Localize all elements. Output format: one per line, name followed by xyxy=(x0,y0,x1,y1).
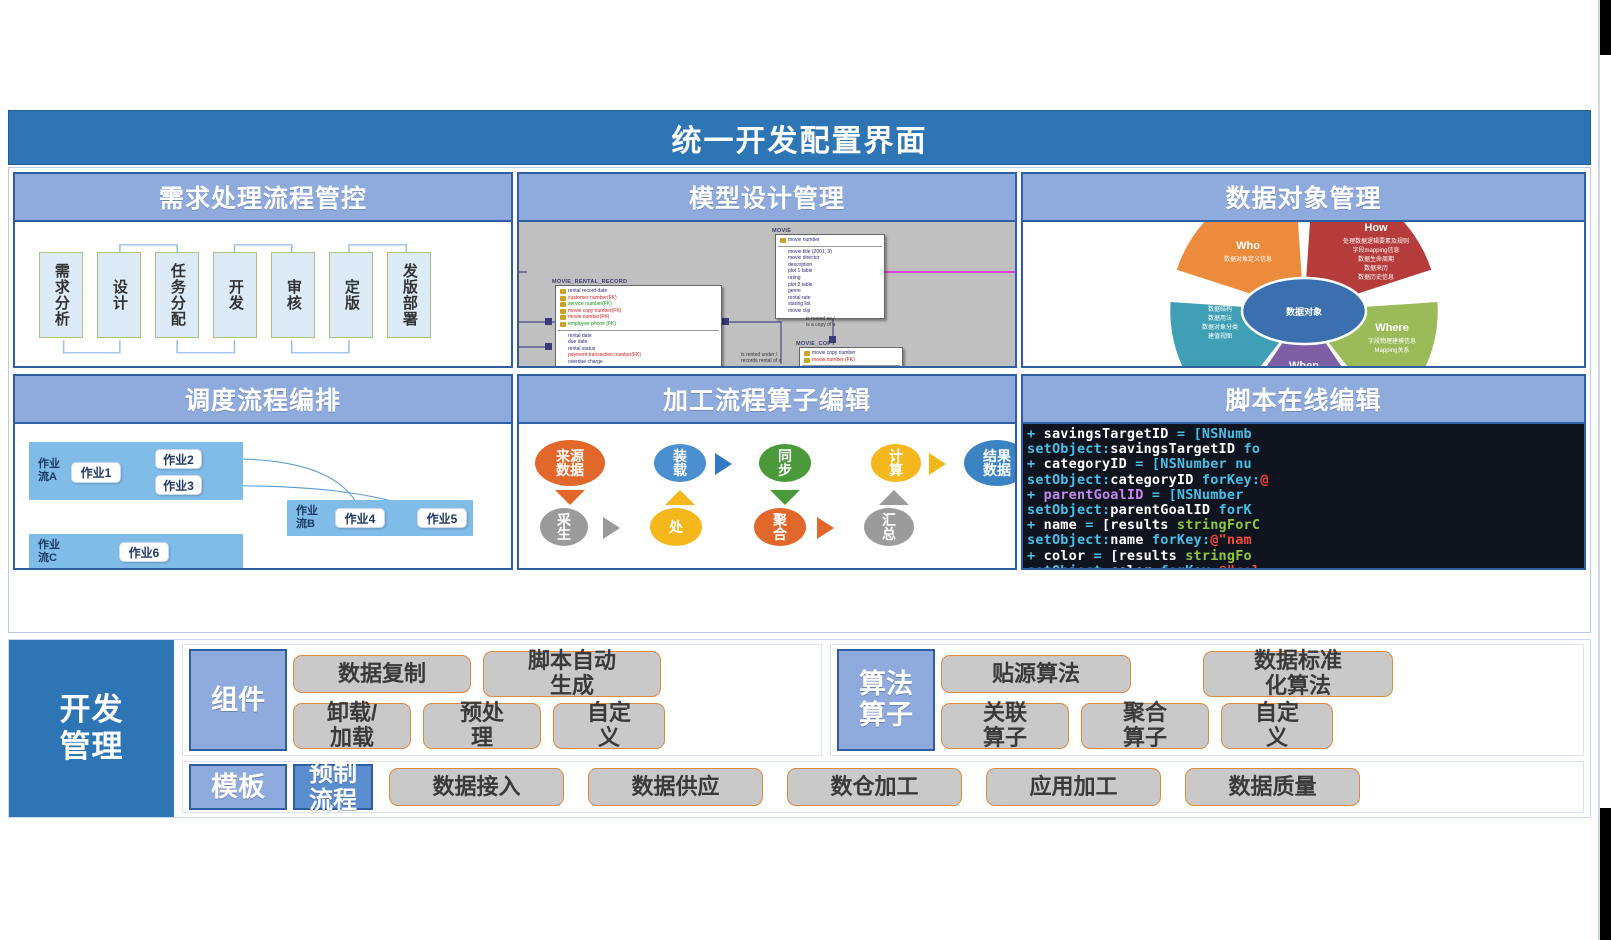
dev-band-primary: 组件 数据复制 脚本自动 生成 卸载/ 加载 预处 理 自定 义 xyxy=(182,644,1584,756)
panel-schedule-orchestration[interactable]: 调度流程编排 xyxy=(13,374,513,570)
workflow-node[interactable]: 发版部署 xyxy=(387,252,431,338)
chip-custom-component[interactable]: 自定 义 xyxy=(553,703,665,749)
panel-title-script: 脚本在线编辑 xyxy=(1023,376,1584,424)
operator-node-collect[interactable]: 采 生 xyxy=(540,508,588,546)
chip-preprocess[interactable]: 预处 理 xyxy=(423,703,541,749)
er-attribute: due date xyxy=(559,339,719,346)
job-node[interactable]: 作业2 xyxy=(155,449,202,469)
chip-source-algorithm[interactable]: 贴源算法 xyxy=(941,655,1131,693)
workflow-node-list: 需求分析 设计 任务分配 开发 审核 定版 发版部署 xyxy=(39,252,431,338)
code-line: setObject:name forKey:@"nam xyxy=(1027,533,1584,548)
er-attribute: movie title (2001, 9) xyxy=(779,249,882,256)
job-flow-label: 作业 流A xyxy=(38,458,68,483)
right-edge-divider xyxy=(1598,0,1600,940)
code-line: + color = [results stringFo xyxy=(1027,549,1584,564)
chip-data-ingest[interactable]: 数据接入 xyxy=(389,768,564,806)
er-attribute: movie number (FK) xyxy=(803,357,900,364)
component-chip-grid: 数据复制 脚本自动 生成 卸载/ 加载 预处 理 自定 义 xyxy=(287,645,821,755)
operator-node-source-data[interactable]: 来源 数据 xyxy=(535,440,605,486)
chip-unload-load[interactable]: 卸载/ 加载 xyxy=(293,703,411,749)
panel-body-data-object: 数据对象 Who 数据对象定义信息 How 处理数据逻辑要素及规则 字段mapp… xyxy=(1023,222,1584,366)
panel-script-editor[interactable]: 脚本在线编辑 + savingsTargetID = [NSNumb setOb… xyxy=(1021,374,1586,570)
operator-node-aggregate[interactable]: 聚 合 xyxy=(754,508,806,546)
category-template[interactable]: 模板 xyxy=(189,764,287,810)
workflow-node[interactable]: 审核 xyxy=(271,252,315,338)
arrow-right-icon xyxy=(817,517,834,539)
panel-title-requirement: 需求处理流程管控 xyxy=(15,174,511,222)
pie-sublabel-where: 字段物理建模信息 xyxy=(1367,337,1415,345)
page-title: 统一开发配置界面 xyxy=(672,116,928,160)
pie-label-where: Where xyxy=(1375,322,1409,334)
arrow-right-icon xyxy=(715,453,732,475)
workflow-node[interactable]: 设计 xyxy=(97,252,141,338)
pie-sublabel-what-3: 数据对象分类 xyxy=(1201,323,1237,331)
er-entity-movie-rental-record[interactable]: rental record date customer number(FK) s… xyxy=(555,285,722,366)
workflow-node[interactable]: 需求分析 xyxy=(39,252,83,338)
er-attribute: movie copy number(FK) xyxy=(559,308,719,315)
right-edge-strip-top xyxy=(1600,0,1611,55)
er-separator xyxy=(802,365,900,366)
panel-data-object[interactable]: 数据对象管理 xyxy=(1021,172,1586,368)
pie-sublabel-what: 数据结构 xyxy=(1207,305,1231,313)
job-node[interactable]: 作业3 xyxy=(155,475,202,495)
panel-model-design[interactable]: 模型设计管理 xyxy=(517,172,1017,368)
pie-sublabel-where-2: Mapping关系 xyxy=(1374,346,1409,354)
panel-body-schedule: 作业 流A 作业1 作业2 作业3 作业 流B 作业4 作业5 xyxy=(15,424,511,568)
code-editor-surface[interactable]: + savingsTargetID = [NSNumb setObject:sa… xyxy=(1023,424,1584,568)
er-attribute: movie director xyxy=(779,255,882,262)
development-management-section: 开发 管理 组件 数据复制 脚本自动 生成 卸载/ 加载 xyxy=(8,639,1591,818)
schedule-diagram: 作业 流A 作业1 作业2 作业3 作业 流B 作业4 作业5 xyxy=(15,424,511,568)
operator-node-process[interactable]: 处 xyxy=(650,508,702,546)
dev-cell-components: 组件 数据复制 脚本自动 生成 卸载/ 加载 预处 理 自定 义 xyxy=(182,644,822,756)
job-flow-label: 作业 流C xyxy=(38,539,68,564)
workflow-node[interactable]: 任务分配 xyxy=(155,252,199,338)
er-attribute: customer number(FK) xyxy=(559,295,719,302)
code-line: setObject:parentGoalID forK xyxy=(1027,503,1584,518)
operator-node-result-data[interactable]: 结果 数据 xyxy=(964,440,1015,486)
arrow-up-icon xyxy=(665,490,695,505)
er-entity-movie-copy[interactable]: movie copy number movie number (FK) gene… xyxy=(799,347,903,366)
category-components[interactable]: 组件 xyxy=(189,649,287,751)
pie-center-label: 数据对象 xyxy=(1285,306,1321,317)
pie-sublabel-what-2: 数据用法 xyxy=(1207,314,1231,322)
er-attribute: rental date xyxy=(559,333,719,340)
er-attribute: movie number xyxy=(779,237,882,244)
er-attribute: movie clip xyxy=(779,308,882,315)
dev-band-templates: 模板 预制 流程 数据接入 数据供应 数仓加工 应用加工 数据质量 xyxy=(182,761,1584,813)
er-attribute: movie number(FK) xyxy=(559,314,719,321)
dev-management-body: 组件 数据复制 脚本自动 生成 卸载/ 加载 预处 理 自定 义 xyxy=(174,640,1590,817)
code-line: setObject:color forKey:@"col xyxy=(1027,564,1584,568)
er-relationship-note: is rented as / is a copy of a xyxy=(806,316,835,329)
pie-sublabel-how-3: 数据生命周期 xyxy=(1357,255,1393,263)
pie-sublabel-how-5: 数据历史信息 xyxy=(1357,273,1393,281)
panel-title-operator: 加工流程算子编辑 xyxy=(519,376,1015,424)
slide-content: 统一开发配置界面 需求处理流程管控 xyxy=(8,110,1593,820)
pie-label-when: When xyxy=(1289,360,1319,366)
pie-sublabel-what-4: 建值视图 xyxy=(1207,332,1231,340)
category-preset-flow[interactable]: 预制 流程 xyxy=(293,764,373,810)
category-algorithm-operators[interactable]: 算法 算子 xyxy=(837,649,935,751)
panel-row-top: 需求处理流程管控 xyxy=(13,172,1586,368)
panel-grid: 需求处理流程管控 xyxy=(8,167,1591,633)
operator-node-summary[interactable]: 汇 总 xyxy=(864,508,914,546)
panel-operator-editor[interactable]: 加工流程算子编辑 来源 数据 装 载 同 步 计 算 结果 数据 xyxy=(517,374,1017,570)
dev-cell-algorithms: 算法 算子 贴源算法 数据标准 化算法 关联 算子 聚合 算子 自定 义 xyxy=(830,644,1584,756)
chip-standardization-algorithm[interactable]: 数据标准 化算法 xyxy=(1203,651,1393,697)
chip-data-replication[interactable]: 数据复制 xyxy=(293,655,471,693)
er-attribute: service number(FK) xyxy=(559,301,719,308)
panel-body-model-design: MOVIE_RENTAL_RECORD rental record date c… xyxy=(519,222,1015,366)
pie-sublabel-how-2: 字段mapping信息 xyxy=(1352,246,1399,254)
requirement-workflow-diagram: 需求分析 设计 任务分配 开发 审核 定版 发版部署 xyxy=(29,234,503,360)
chip-application-processing[interactable]: 应用加工 xyxy=(986,768,1161,806)
pie-sublabel-who: 数据对象定义信息 xyxy=(1223,255,1271,263)
er-attribute: employee phone (FK) xyxy=(559,321,719,328)
code-line: + parentGoalID = [NSNumber xyxy=(1027,488,1584,503)
slide-root: 统一开发配置界面 需求处理流程管控 xyxy=(0,0,1611,940)
chip-row: 数据接入 数据供应 数仓加工 应用加工 数据质量 xyxy=(389,768,1577,806)
panel-title-schedule: 调度流程编排 xyxy=(15,376,511,424)
er-entity-movie[interactable]: movie number movie title (2001, 9) movie… xyxy=(775,234,885,319)
pie-label-how: How xyxy=(1364,222,1388,234)
panel-body-operator: 来源 数据 装 载 同 步 计 算 结果 数据 xyxy=(519,424,1015,568)
er-relationship-note: is rented under / records rental of a xyxy=(741,352,781,365)
pie-label-what: What xyxy=(1206,290,1233,302)
chip-join-operator[interactable]: 关联 算子 xyxy=(941,703,1069,749)
operator-flow-diagram: 来源 数据 装 载 同 步 计 算 结果 数据 xyxy=(519,424,1015,568)
er-separator xyxy=(778,246,882,247)
er-diagram[interactable]: MOVIE_RENTAL_RECORD rental record date c… xyxy=(519,222,1015,366)
job-flow-group-a[interactable]: 作业 流A xyxy=(29,442,243,500)
job-flow-label: 作业 流B xyxy=(296,505,326,530)
er-attribute: rental status xyxy=(559,346,719,353)
er-separator xyxy=(558,330,719,331)
chip-data-quality[interactable]: 数据质量 xyxy=(1185,768,1360,806)
data-object-pie-chart[interactable]: 数据对象 Who 数据对象定义信息 How 处理数据逻辑要素及规则 字段mapp… xyxy=(1023,222,1584,366)
job-node[interactable]: 作业1 xyxy=(71,462,121,483)
pie-svg: 数据对象 Who 数据对象定义信息 How 处理数据逻辑要素及规则 字段mapp… xyxy=(1069,222,1539,366)
er-attribute: description xyxy=(779,262,882,269)
er-attribute: movie copy number xyxy=(803,350,900,357)
er-attribute: rental rate xyxy=(779,295,882,302)
chip-row: 数据复制 脚本自动 生成 xyxy=(293,651,815,697)
chip-row: 卸载/ 加载 预处 理 自定 义 xyxy=(293,703,815,749)
arrow-down-icon xyxy=(770,490,800,505)
operator-node-sync[interactable]: 同 步 xyxy=(759,444,811,482)
panel-title-data-object: 数据对象管理 xyxy=(1023,174,1584,222)
right-edge-strip-bottom xyxy=(1600,808,1611,940)
dev-cell-templates: 模板 预制 流程 数据接入 数据供应 数仓加工 应用加工 数据质量 xyxy=(182,761,1584,813)
er-attribute: overdue charge xyxy=(559,359,719,366)
er-attribute: rating xyxy=(779,275,882,282)
dev-management-title: 开发 管理 xyxy=(9,640,174,817)
panel-requirement-process[interactable]: 需求处理流程管控 xyxy=(13,172,513,368)
operator-node-load[interactable]: 装 载 xyxy=(654,444,706,482)
chip-custom-operator[interactable]: 自定 义 xyxy=(1221,703,1333,749)
app-header: 统一开发配置界面 xyxy=(8,110,1591,165)
chip-warehouse-processing[interactable]: 数仓加工 xyxy=(787,768,962,806)
workflow-node[interactable]: 定版 xyxy=(329,252,373,338)
chip-aggregate-operator[interactable]: 聚合 算子 xyxy=(1081,703,1209,749)
workflow-node[interactable]: 开发 xyxy=(213,252,257,338)
operator-node-compute[interactable]: 计 算 xyxy=(871,444,921,482)
job-node[interactable]: 作业6 xyxy=(119,542,169,562)
panel-title-model-design: 模型设计管理 xyxy=(519,174,1015,222)
arrow-down-icon xyxy=(555,490,585,505)
panel-body-script: + savingsTargetID = [NSNumb setObject:sa… xyxy=(1023,424,1584,568)
chip-row: 关联 算子 聚合 算子 自定 义 xyxy=(941,703,1577,749)
chip-data-supply[interactable]: 数据供应 xyxy=(588,768,763,806)
panel-body-requirement: 需求分析 设计 任务分配 开发 审核 定版 发版部署 xyxy=(15,222,511,366)
er-attribute: payment transaction number(FK) xyxy=(559,352,719,359)
job-node[interactable]: 作业4 xyxy=(335,508,385,528)
arrow-right-icon xyxy=(603,517,620,539)
chip-script-auto-generate[interactable]: 脚本自动 生成 xyxy=(483,651,661,697)
job-node[interactable]: 作业5 xyxy=(417,508,467,528)
pie-sublabel-how-4: 数据来历 xyxy=(1363,264,1387,272)
panel-row-bottom: 调度流程编排 xyxy=(13,374,1586,570)
er-attribute: rental record date xyxy=(559,288,719,295)
pie-sublabel-how: 处理数据逻辑要素及规则 xyxy=(1342,237,1408,245)
er-attribute: plot 2 table xyxy=(779,282,882,289)
er-attribute: plot 1 table xyxy=(779,268,882,275)
chip-row: 贴源算法 数据标准 化算法 xyxy=(941,651,1577,697)
code-line: + categoryID = [NSNumber nu xyxy=(1027,457,1584,472)
preset-flow-chip-grid: 数据接入 数据供应 数仓加工 应用加工 数据质量 xyxy=(373,762,1583,812)
code-line: + name = [results stringForC xyxy=(1027,518,1584,533)
er-attribute: genre xyxy=(779,288,882,295)
code-line: setObject:categoryID forKey:@ xyxy=(1027,473,1584,488)
code-line: setObject:savingsTargetID fo xyxy=(1027,442,1584,457)
code-line: + savingsTargetID = [NSNumb xyxy=(1027,427,1584,442)
arrow-right-icon xyxy=(929,453,946,475)
algorithm-chip-grid: 贴源算法 数据标准 化算法 关联 算子 聚合 算子 自定 义 xyxy=(935,645,1583,755)
arrow-up-icon xyxy=(879,490,909,505)
er-attribute: staring list xyxy=(779,301,882,308)
pie-label-who: Who xyxy=(1236,240,1260,252)
